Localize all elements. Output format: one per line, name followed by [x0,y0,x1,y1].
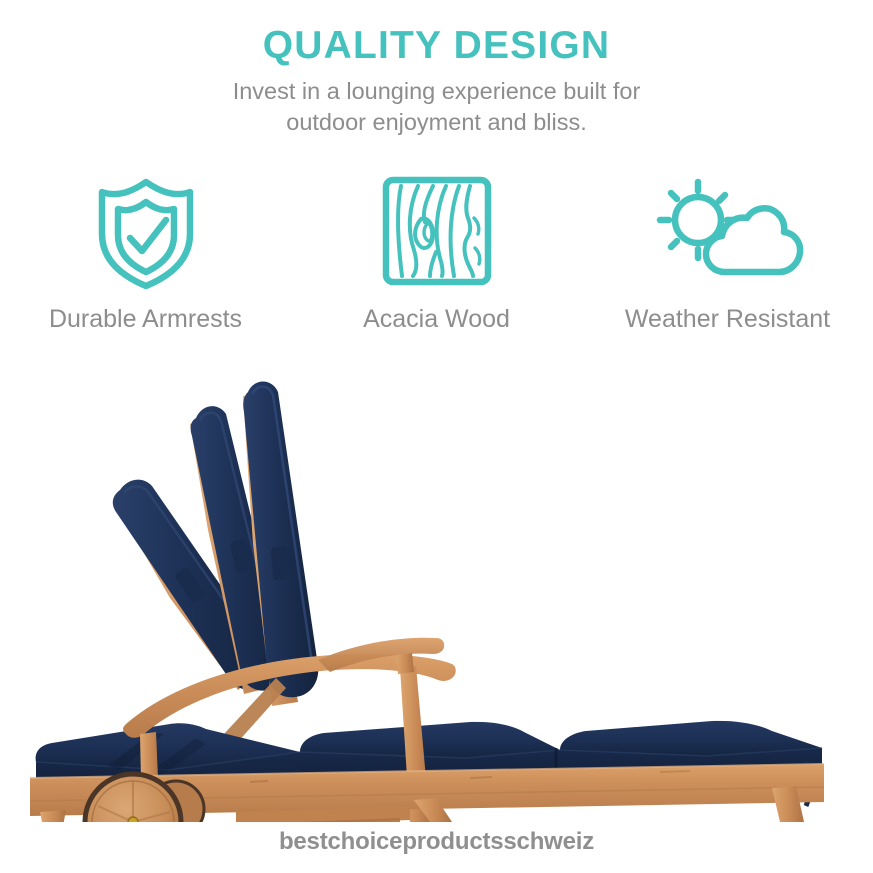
feature-item-durable-armrests: Durable Armrests [1,168,291,334]
header: QUALITY DESIGN Invest in a lounging expe… [0,0,873,138]
marketing-image: QUALITY DESIGN Invest in a lounging expe… [0,0,873,873]
feature-label-durable-armrests: Durable Armrests [49,305,242,334]
feature-label-weather-resistant: Weather Resistant [625,305,830,334]
leg-front-left [40,810,66,822]
wood-grain-icon [378,168,496,293]
sun-cloud-icon [648,168,808,293]
product-image-chaise-lounge [0,372,873,822]
subtitle-line-2: outdoor enjoyment and bliss. [286,109,586,135]
wheel-hub [128,817,138,822]
feature-label-acacia-wood: Acacia Wood [363,305,510,334]
page-subtitle: Invest in a lounging experience built fo… [117,76,757,138]
shield-check-icon [94,168,198,293]
page-title: QUALITY DESIGN [0,26,873,67]
subtitle-line-1: Invest in a lounging experience built fo… [233,78,641,104]
feature-item-acacia-wood: Acacia Wood [292,168,582,334]
brand-watermark: bestchoiceproductsschweiz [0,828,873,856]
feature-list: Durable Armrests [0,168,873,334]
feature-item-weather-resistant: Weather Resistant [583,168,873,334]
